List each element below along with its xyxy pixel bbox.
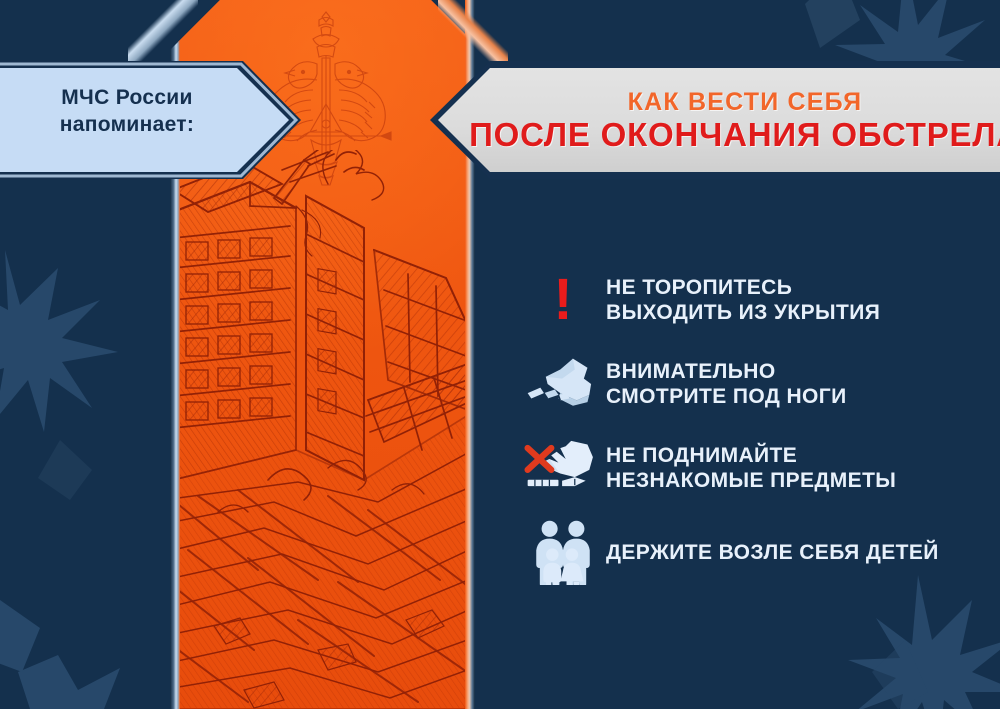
tip-label: ДЕРЖИТЕ ВОЗЛЕ СЕБЯ ДЕТЕЙ — [606, 540, 939, 565]
boot-stepping-on-explosive-icon — [520, 355, 606, 413]
tip-line-2: ВЫХОДИТЬ ИЗ УКРЫТИЯ — [606, 300, 880, 325]
list-item: ДЕРЖИТЕ ВОЗЛЕ СЕБЯ ДЕТЕЙ — [520, 510, 990, 594]
tip-line-2: СМОТРИТЕ ПОД НОГИ — [606, 384, 847, 409]
tip-label: НЕ ТОРОПИТЕСЬ ВЫХОДИТЬ ИЗ УКРЫТИЯ — [606, 275, 880, 325]
tip-line-1: НЕ ТОРОПИТЕСЬ — [606, 276, 792, 299]
left-banner-line1: МЧС России — [22, 84, 232, 111]
tips-list: ! НЕ ТОРОПИТЕСЬ ВЫХОДИТЬ ИЗ УКРЫТИЯ — [520, 258, 990, 594]
exclamation-mark-icon: ! — [520, 275, 606, 325]
left-banner-line2: напоминает: — [22, 111, 232, 138]
exclamation-glyph: ! — [553, 275, 572, 325]
header-line-1: КАК ВЕСТИ СЕБЯ — [628, 88, 863, 116]
tip-line-1: НЕ ПОДНИМАЙТЕ — [606, 444, 797, 467]
list-item: ! НЕ ТОРОПИТЕСЬ ВЫХОДИТЬ ИЗ УКРЫТИЯ — [520, 258, 990, 342]
tip-label: НЕ ПОДНИМАЙТЕ НЕЗНАКОМЫЕ ПРЕДМЕТЫ — [606, 443, 896, 493]
left-banner-text: МЧС России напоминает: — [22, 84, 232, 138]
tip-label: ВНИМАТЕЛЬНО СМОТРИТЕ ПОД НОГИ — [606, 359, 847, 409]
list-item: НЕ ПОДНИМАЙТЕ НЕЗНАКОМЫЕ ПРЕДМЕТЫ — [520, 426, 990, 510]
panel-right-bevel-diagonal — [438, 0, 508, 64]
poster-root: МЧС России напоминает: КАК ВЕСТИ СЕБЯ ПО… — [0, 0, 1000, 709]
header-line-2: ПОСЛЕ ОКОНЧАНИЯ ОБСТРЕЛА — [469, 116, 1000, 153]
tip-line-1: ДЕРЖИТЕ ВОЗЛЕ СЕБЯ ДЕТЕЙ — [606, 541, 939, 564]
right-banner: КАК ВЕСТИ СЕБЯ ПОСЛЕ ОКОНЧАНИЯ ОБСТРЕЛА — [438, 68, 1000, 172]
destroyed-buildings-sketch — [178, 150, 473, 709]
panel-left-bevel-diagonal — [128, 0, 198, 64]
list-item: ВНИМАТЕЛЬНО СМОТРИТЕ ПОД НОГИ — [520, 342, 990, 426]
tip-line-2: НЕЗНАКОМЫЕ ПРЕДМЕТЫ — [606, 468, 896, 493]
family-with-children-icon — [520, 519, 606, 585]
hand-picking-up-object-forbidden-icon — [520, 439, 606, 497]
tip-line-1: ВНИМАТЕЛЬНО — [606, 360, 776, 383]
left-banner: МЧС России напоминает: — [0, 68, 294, 172]
